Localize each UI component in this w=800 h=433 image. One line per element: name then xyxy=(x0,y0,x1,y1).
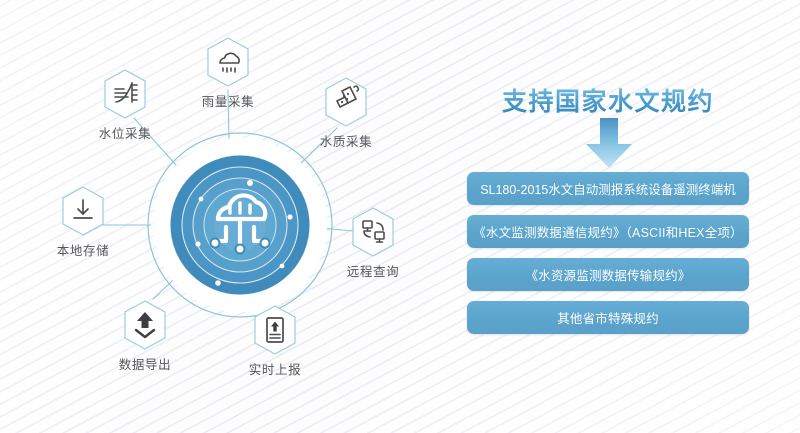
node-label: 雨量采集 xyxy=(173,91,283,110)
node-label: 远程查询 xyxy=(318,261,428,280)
node-rainfall-collection[interactable]: 雨量采集 xyxy=(173,36,283,110)
protocol-item[interactable]: 其他省市特殊规约 xyxy=(467,301,749,334)
panel-headline: 支持国家水文规约 xyxy=(458,82,758,118)
hub-and-spoke-diagram: 雨量采集 水位采集 xyxy=(0,0,470,433)
flask-icon xyxy=(323,76,369,128)
upload-arrow-icon xyxy=(122,299,168,351)
node-data-export[interactable]: 数据导出 xyxy=(90,299,200,373)
node-label: 水位采集 xyxy=(70,123,180,142)
node-realtime-report[interactable]: 实时上报 xyxy=(220,304,330,378)
node-water-quality-collection[interactable]: 水质采集 xyxy=(291,76,401,150)
node-label: 数据导出 xyxy=(90,354,200,373)
protocol-support-panel: 支持国家水文规约 SL180-2015水文自动测报系统设备遥测终端机 《水文监测… xyxy=(458,0,800,433)
node-label: 本地存储 xyxy=(28,240,138,259)
document-upload-icon xyxy=(252,304,298,356)
down-arrow-icon xyxy=(570,118,648,175)
node-local-storage[interactable]: 本地存储 xyxy=(28,185,138,259)
rain-cloud-icon xyxy=(205,36,251,88)
node-label: 水质采集 xyxy=(291,131,401,150)
download-tray-icon xyxy=(60,185,106,237)
node-water-level-collection[interactable]: 水位采集 xyxy=(70,68,180,142)
infographic-canvas: 雨量采集 水位采集 xyxy=(0,0,800,433)
water-level-gauge-icon xyxy=(102,68,148,120)
protocol-list: SL180-2015水文自动测报系统设备遥测终端机 《水文监测数据通信规约》（A… xyxy=(467,172,749,344)
protocol-item[interactable]: SL180-2015水文自动测报系统设备遥测终端机 xyxy=(467,172,749,205)
remote-devices-icon xyxy=(350,206,396,258)
protocol-item[interactable]: 《水资源监测数据传输规约》 xyxy=(467,258,749,291)
central-hub xyxy=(146,131,334,319)
protocol-item[interactable]: 《水文监测数据通信规约》（ASCII和HEX全项） xyxy=(467,215,749,248)
node-remote-query[interactable]: 远程查询 xyxy=(318,206,428,280)
node-label: 实时上报 xyxy=(220,359,330,378)
